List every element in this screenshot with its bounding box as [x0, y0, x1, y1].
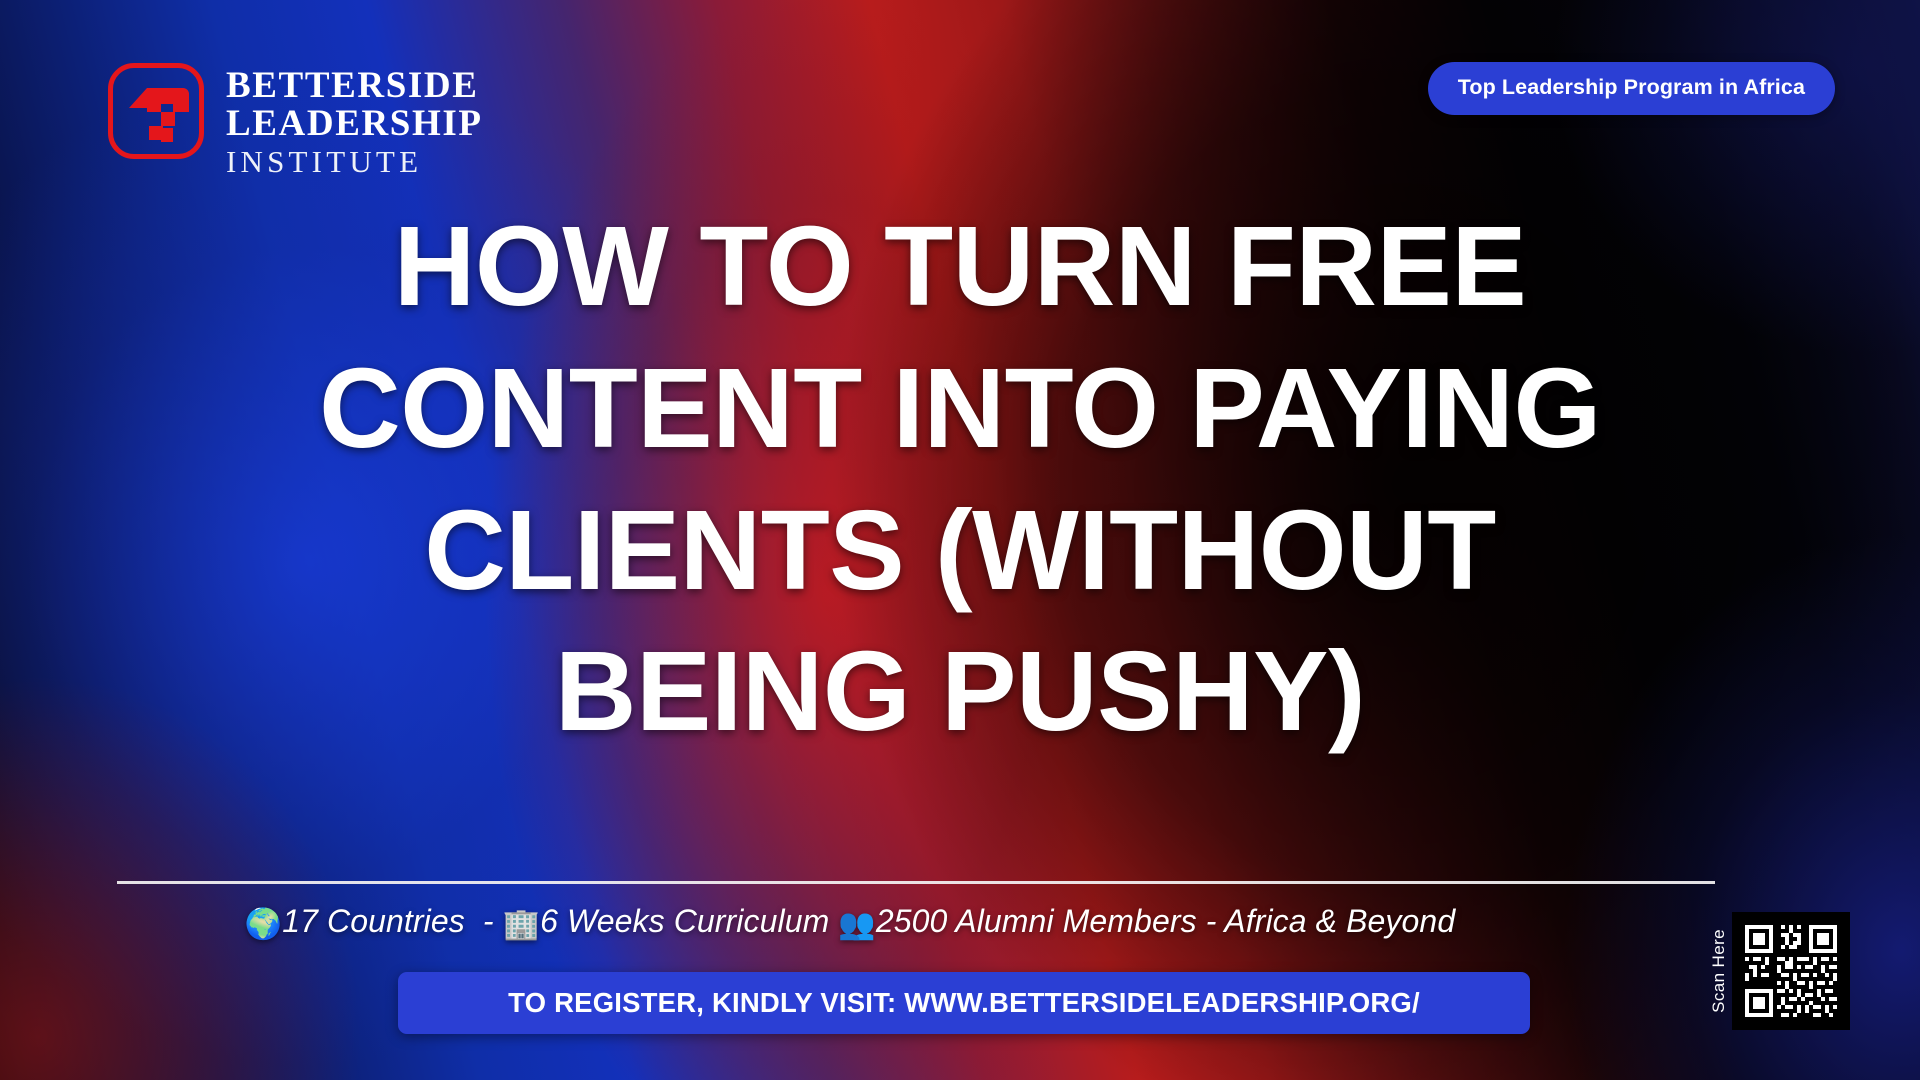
- betterside-logo-mark-icon: [108, 63, 204, 159]
- brand-name-line-1: BETTERSIDE: [226, 67, 483, 105]
- promo-poster: BETTERSIDE LEADERSHIP INSTITUTE Top Lead…: [0, 0, 1920, 1080]
- stat-curriculum: 6 Weeks Curriculum: [540, 903, 829, 939]
- globe-icon: 🌍: [245, 908, 282, 941]
- stats-row: 🌍17 Countries - 🏢6 Weeks Curriculum 👥250…: [0, 903, 1700, 942]
- stat-alumni: 2500 Alumni Members - Africa & Beyond: [876, 903, 1455, 939]
- stat-countries: 17 Countries: [282, 903, 465, 939]
- headline-block: HOW TO TURN FREE CONTENT INTO PAYING CLI…: [0, 196, 1920, 763]
- scan-here-label: Scan Here: [1710, 929, 1727, 1013]
- register-cta-button[interactable]: TO REGISTER, KINDLY VISIT: WWW.BETTERSID…: [398, 972, 1530, 1034]
- school-building-icon: 🏢: [503, 908, 540, 941]
- qr-section[interactable]: Scan Here: [1710, 912, 1850, 1030]
- horizontal-divider: [117, 881, 1715, 884]
- poster-header: BETTERSIDE LEADERSHIP INSTITUTE Top Lead…: [0, 0, 1920, 190]
- brand-name-line-3: INSTITUTE: [226, 142, 483, 181]
- top-leadership-badge[interactable]: Top Leadership Program in Africa: [1428, 62, 1835, 115]
- people-icon: 👥: [838, 908, 875, 941]
- brand-logo[interactable]: BETTERSIDE LEADERSHIP INSTITUTE: [108, 63, 483, 181]
- brand-name-line-2: LEADERSHIP: [226, 105, 483, 143]
- headline-line-3: CLIENTS (WITHOUT: [70, 480, 1850, 622]
- headline-line-2: CONTENT INTO PAYING: [70, 338, 1850, 480]
- stat-separator: -: [483, 903, 494, 939]
- brand-logo-wordmark: BETTERSIDE LEADERSHIP INSTITUTE: [226, 63, 483, 181]
- headline-line-1: HOW TO TURN FREE: [70, 196, 1850, 338]
- qr-code-icon[interactable]: [1732, 912, 1850, 1030]
- headline-line-4: BEING PUSHY): [70, 621, 1850, 763]
